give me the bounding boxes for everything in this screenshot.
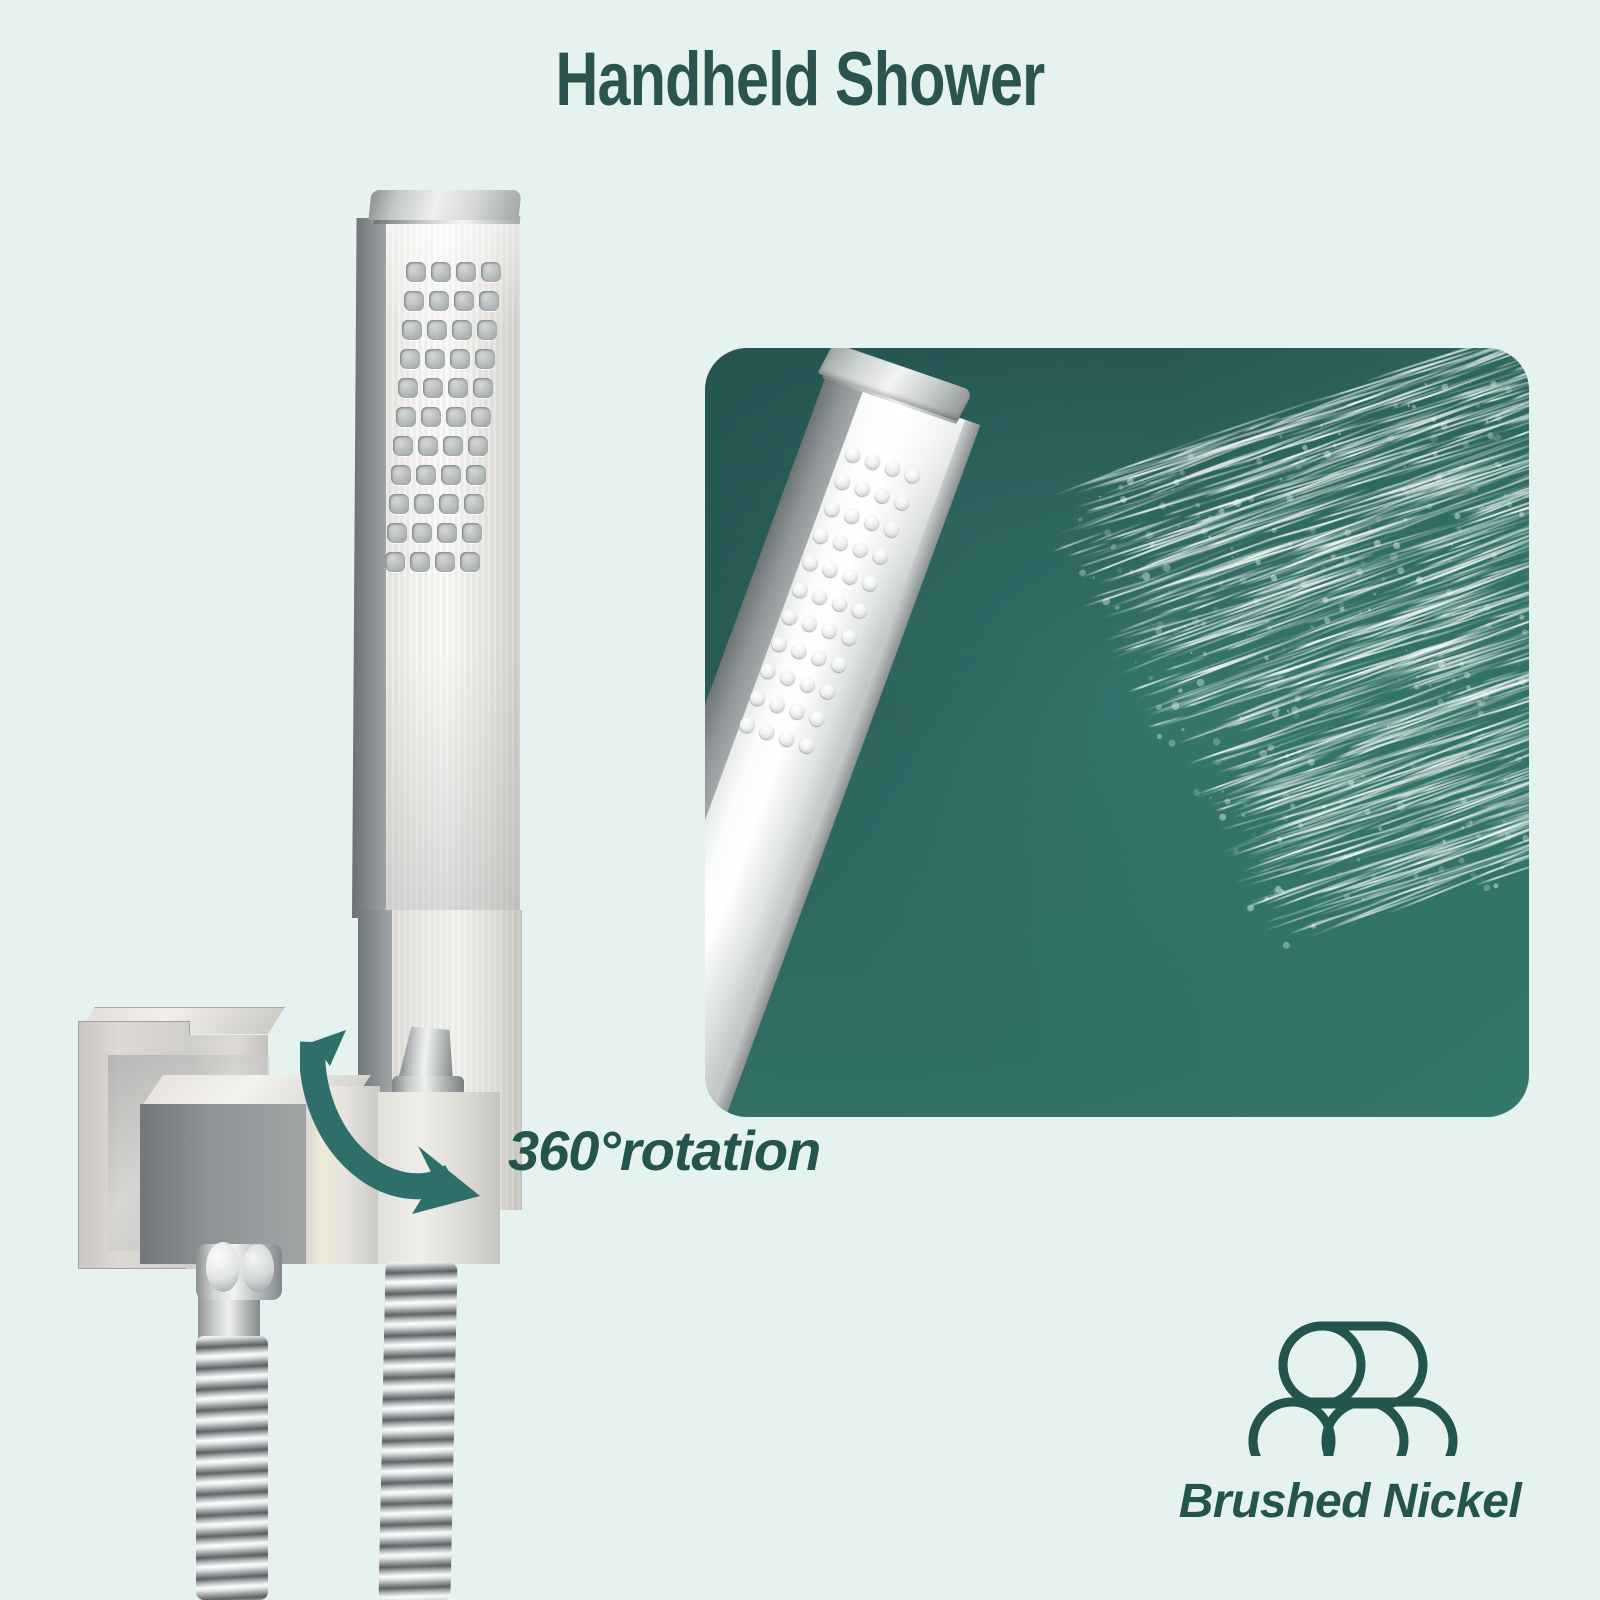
nozzle <box>454 291 474 311</box>
water-droplet <box>1181 728 1185 732</box>
nozzle <box>468 436 488 456</box>
product-infographic: Handheld Shower <box>0 0 1600 1600</box>
nozzle <box>758 722 777 741</box>
nozzle <box>393 436 413 456</box>
shower-wand <box>352 190 520 1035</box>
nozzle <box>402 320 422 340</box>
nozzle <box>387 523 407 543</box>
nozzle <box>398 378 418 398</box>
nozzle <box>892 493 911 512</box>
nozzle <box>475 349 495 369</box>
nozzle <box>437 523 457 543</box>
flexible-metal-hose-left <box>196 1336 268 1600</box>
nozzle <box>452 320 472 340</box>
water-droplet <box>1252 871 1255 874</box>
nozzle <box>448 378 468 398</box>
nozzle <box>400 349 420 369</box>
nozzle <box>421 407 441 427</box>
nozzle <box>481 262 501 282</box>
bracket-arm-front <box>140 1104 308 1264</box>
nozzle <box>871 547 890 566</box>
nozzle <box>406 262 426 282</box>
nozzle <box>851 540 870 559</box>
nozzle <box>842 506 861 525</box>
nozzle <box>435 552 455 572</box>
nozzle <box>416 465 436 485</box>
nozzle <box>777 729 796 748</box>
nozzle <box>414 494 434 514</box>
nozzle <box>479 291 499 311</box>
nozzle <box>431 262 451 282</box>
water-droplet <box>1156 733 1163 740</box>
nozzle <box>446 407 466 427</box>
nozzle <box>418 436 438 456</box>
water-droplet <box>1267 744 1276 753</box>
nozzle <box>423 378 443 398</box>
rotation-caption: 360°rotation <box>508 1118 820 1183</box>
water-droplet <box>1148 675 1154 681</box>
nozzle <box>800 614 819 633</box>
nozzle <box>460 552 480 572</box>
wand-left-bevel <box>352 218 390 918</box>
nozzle <box>797 736 816 755</box>
wand-top-cap <box>368 190 521 220</box>
water-droplet <box>1134 662 1137 665</box>
nozzle <box>391 465 411 485</box>
nozzle <box>477 320 497 340</box>
finish-label: Brushed Nickel <box>1140 1474 1560 1529</box>
water-jet <box>1266 908 1305 922</box>
nozzle <box>396 407 416 427</box>
water-droplet <box>1493 883 1500 890</box>
nozzle <box>832 533 851 552</box>
nozzle <box>466 465 486 485</box>
water-droplet <box>1518 663 1521 666</box>
nozzle <box>456 262 476 282</box>
nozzle <box>389 494 409 514</box>
nozzle-grid <box>406 262 512 582</box>
stacked-pipes-icon <box>1225 1316 1475 1456</box>
nozzle <box>464 494 484 514</box>
nozzle <box>439 494 459 514</box>
water-outlet-nut-left-knob <box>206 1242 240 1292</box>
water-droplet <box>1114 605 1120 611</box>
nozzle <box>450 349 470 369</box>
water-droplet <box>1077 516 1083 522</box>
nozzle <box>853 479 872 498</box>
nozzle <box>462 523 482 543</box>
nozzle <box>808 709 827 728</box>
nozzle <box>799 675 818 694</box>
water-droplet <box>1282 941 1291 950</box>
water-droplet <box>1092 576 1095 579</box>
nozzle <box>412 523 432 543</box>
nozzle <box>862 513 881 532</box>
nozzle <box>425 349 445 369</box>
nozzle <box>841 567 860 586</box>
inset-photo-panel <box>705 348 1529 1117</box>
nozzle <box>820 621 839 640</box>
water-droplet <box>1292 712 1300 720</box>
water-droplet <box>1476 404 1480 408</box>
water-droplet <box>1116 566 1124 574</box>
nozzle <box>821 560 840 579</box>
water-droplet <box>1210 796 1213 799</box>
nozzle <box>789 641 808 660</box>
nozzle <box>788 702 807 721</box>
nozzle <box>410 552 430 572</box>
nozzle <box>404 291 424 311</box>
water-droplet <box>1170 504 1173 507</box>
nozzle <box>385 552 405 572</box>
water-droplet <box>1483 884 1491 892</box>
nozzle <box>861 574 880 593</box>
nozzle <box>427 320 447 340</box>
water-droplet <box>1167 739 1176 748</box>
water-droplet <box>1501 866 1505 870</box>
nozzle <box>473 378 493 398</box>
nozzle <box>443 436 463 456</box>
water-droplet <box>1218 812 1228 822</box>
water-outlet-nut-right-knob <box>242 1244 274 1292</box>
nozzle <box>830 594 849 613</box>
water-droplet <box>1338 432 1341 435</box>
nozzle <box>768 695 787 714</box>
water-droplet <box>1405 649 1408 652</box>
finish-badge: Brushed Nickel <box>1140 1316 1560 1529</box>
flexible-metal-hose-right <box>378 1261 457 1600</box>
water-droplet <box>1221 790 1224 793</box>
page-title: Handheld Shower <box>176 36 1424 123</box>
water-droplet <box>1190 651 1193 654</box>
nozzle <box>809 648 828 667</box>
nozzle <box>779 668 798 687</box>
nozzle <box>829 655 848 674</box>
nozzle <box>810 587 829 606</box>
nozzle <box>840 628 859 647</box>
water-droplet <box>1211 737 1221 747</box>
nozzle <box>818 682 837 701</box>
nozzle <box>873 486 892 505</box>
nozzle <box>441 465 461 485</box>
nozzle <box>882 520 901 539</box>
nozzle <box>471 407 491 427</box>
nozzle <box>850 601 869 620</box>
curved-rotation-arrow <box>300 1000 540 1230</box>
nozzle <box>429 291 449 311</box>
